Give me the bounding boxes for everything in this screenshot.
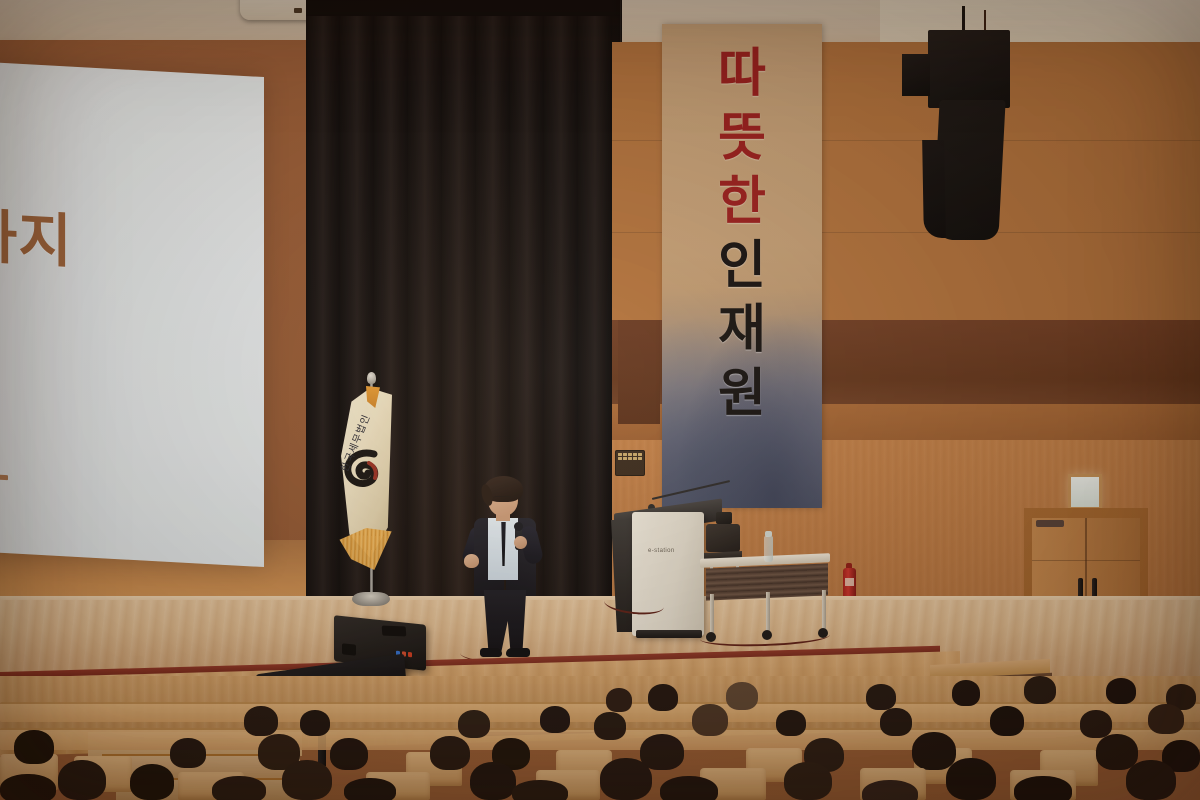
audience-head — [784, 762, 832, 800]
audience-head — [170, 738, 206, 768]
lectern-base — [636, 630, 702, 638]
auditorium-scene: 가지 따 뜻 한 인 재 원 — [0, 0, 1200, 800]
line-array-speaker-top — [928, 30, 1010, 108]
audience-head — [726, 682, 758, 710]
audience-head — [470, 762, 516, 800]
audience-head — [430, 736, 470, 770]
audience-head — [880, 708, 912, 736]
presenter-left-hand — [464, 554, 479, 568]
audience-head — [648, 684, 678, 711]
flag-stand-base — [352, 592, 390, 606]
audience-head — [990, 706, 1024, 736]
lectern — [632, 512, 704, 636]
door-closer-arm — [1036, 520, 1064, 527]
audience-head — [1096, 734, 1138, 770]
audience-head — [692, 704, 728, 736]
table-device — [716, 512, 732, 524]
banner-char-3: 한 — [718, 178, 766, 228]
projection-screen-surface: 가지 — [0, 62, 264, 567]
audience-head — [512, 780, 568, 800]
audience-head — [1024, 676, 1056, 704]
water-bottle — [764, 536, 773, 562]
audience-head — [776, 710, 806, 736]
chair-backrest — [706, 524, 740, 552]
audience-head — [1080, 710, 1112, 738]
audience-head — [14, 730, 54, 764]
audience-area — [0, 676, 1200, 800]
audience-head — [1106, 678, 1136, 704]
audience-head — [912, 732, 956, 770]
presenter — [462, 478, 554, 660]
audience-head — [866, 684, 896, 710]
audience-head — [594, 712, 626, 740]
banner-char-5: 재 — [718, 306, 766, 356]
presenter-glasses-icon — [493, 496, 513, 503]
audience-head — [0, 774, 56, 800]
audience-head — [1126, 760, 1176, 800]
audience-head — [600, 758, 652, 800]
audience-head — [1014, 776, 1072, 800]
presenter-trousers — [482, 590, 528, 652]
curtain-valance — [306, 0, 620, 16]
audience-head — [640, 734, 684, 770]
stage-monitor-port — [342, 643, 356, 655]
audience-head — [130, 764, 174, 800]
microphone-capsule — [514, 522, 523, 531]
audience-head — [344, 778, 396, 800]
wall-control-panel[interactable] — [615, 450, 645, 476]
audience-head — [300, 710, 330, 736]
lectern-brand-label: e-station — [648, 548, 675, 554]
door-panel-seam — [1032, 560, 1140, 561]
audience-head — [212, 776, 266, 800]
audience-head — [862, 780, 918, 800]
audience-head — [330, 738, 368, 770]
stage-monitor-horn — [382, 626, 407, 637]
slide-text: 가지 — [0, 189, 73, 279]
banner-char-1: 따 — [718, 50, 766, 100]
banner-text-column: 따 뜻 한 인 재 원 — [662, 50, 822, 419]
slide-bullet-dash — [0, 474, 8, 480]
audience-head — [282, 760, 332, 800]
audience-head — [244, 706, 278, 736]
banner-char-6: 원 — [718, 370, 766, 420]
extinguisher-label — [845, 578, 854, 586]
audience-head — [660, 776, 718, 800]
banner-char-4: 인 — [718, 242, 766, 292]
audience-head — [946, 758, 996, 800]
audience-head — [58, 760, 106, 800]
audience-head — [1148, 704, 1184, 734]
table-leg — [822, 590, 826, 632]
wall-dark-strip — [618, 320, 660, 424]
audience-head — [540, 706, 570, 733]
audience-head — [458, 710, 490, 738]
projection-screen: 가지 — [0, 62, 264, 567]
audience-head — [606, 688, 632, 712]
vertical-calligraphy-banner: 따 뜻 한 인 재 원 — [662, 24, 822, 508]
line-array-speaker — [932, 100, 1005, 240]
exit-light-box — [1068, 474, 1102, 510]
presenter-right-hand — [514, 536, 527, 549]
banner-char-2: 뜻 — [718, 114, 766, 164]
flag-finial — [367, 372, 376, 384]
audience-head — [952, 680, 980, 706]
table-leg — [710, 594, 714, 636]
